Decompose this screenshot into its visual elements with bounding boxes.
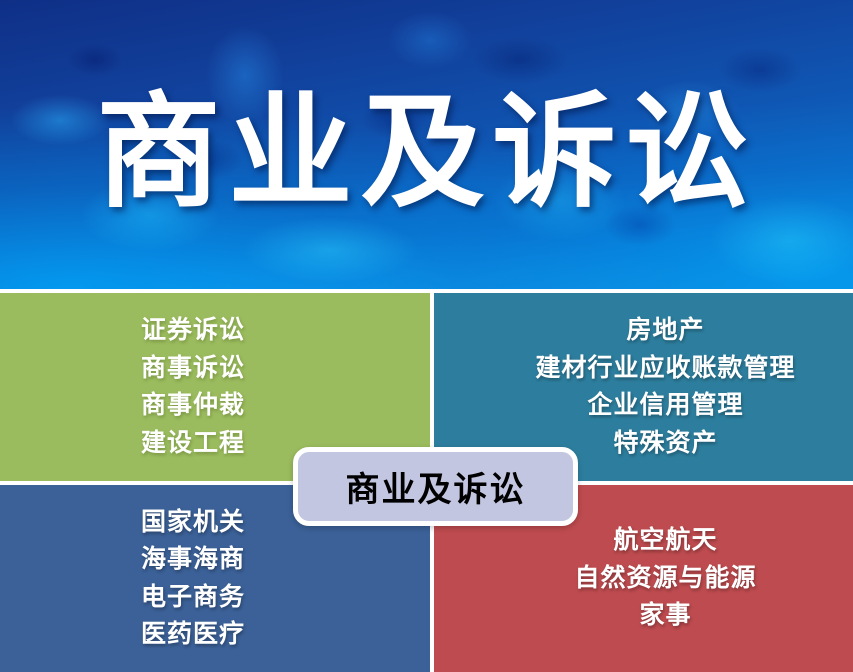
infographic-poster: 商业及诉讼 证券诉讼 商事诉讼 商事仲裁 建设工程 房地产 建材行业应收账款管理… — [0, 0, 853, 672]
list-item[interactable]: 商事诉讼 — [141, 355, 245, 383]
list-item[interactable]: 证券诉讼 — [141, 317, 245, 345]
list-item[interactable]: 家事 — [639, 602, 691, 630]
list-item[interactable]: 特殊资产 — [613, 430, 717, 458]
list-item[interactable]: 企业信用管理 — [587, 392, 743, 420]
list-item[interactable]: 国家机关 — [141, 509, 245, 537]
center-badge[interactable]: 商业及诉讼 — [293, 447, 578, 526]
list-item[interactable]: 电子商务 — [141, 584, 245, 612]
list-item[interactable]: 海事海商 — [141, 546, 245, 574]
list-item[interactable]: 房地产 — [626, 317, 704, 345]
quadrant-bottom-left-items: 国家机关 海事海商 电子商务 医药医疗 — [141, 509, 245, 649]
quadrant-top-right-items: 房地产 建材行业应收账款管理 企业信用管理 特殊资产 — [535, 317, 795, 457]
list-item[interactable]: 航空航天 — [613, 527, 717, 555]
header-banner: 商业及诉讼 — [0, 0, 853, 289]
list-item[interactable]: 商事仲裁 — [141, 392, 245, 420]
page-title: 商业及诉讼 — [0, 0, 853, 289]
center-badge-label: 商业及诉讼 — [346, 462, 526, 511]
quadrant-top-left-items: 证券诉讼 商事诉讼 商事仲裁 建设工程 — [141, 317, 245, 457]
list-item[interactable]: 建材行业应收账款管理 — [535, 355, 795, 383]
list-item[interactable]: 建设工程 — [141, 430, 245, 458]
quadrant-bottom-right-items: 航空航天 自然资源与能源 家事 — [574, 527, 756, 630]
list-item[interactable]: 自然资源与能源 — [574, 565, 756, 593]
list-item[interactable]: 医药医疗 — [141, 621, 245, 649]
